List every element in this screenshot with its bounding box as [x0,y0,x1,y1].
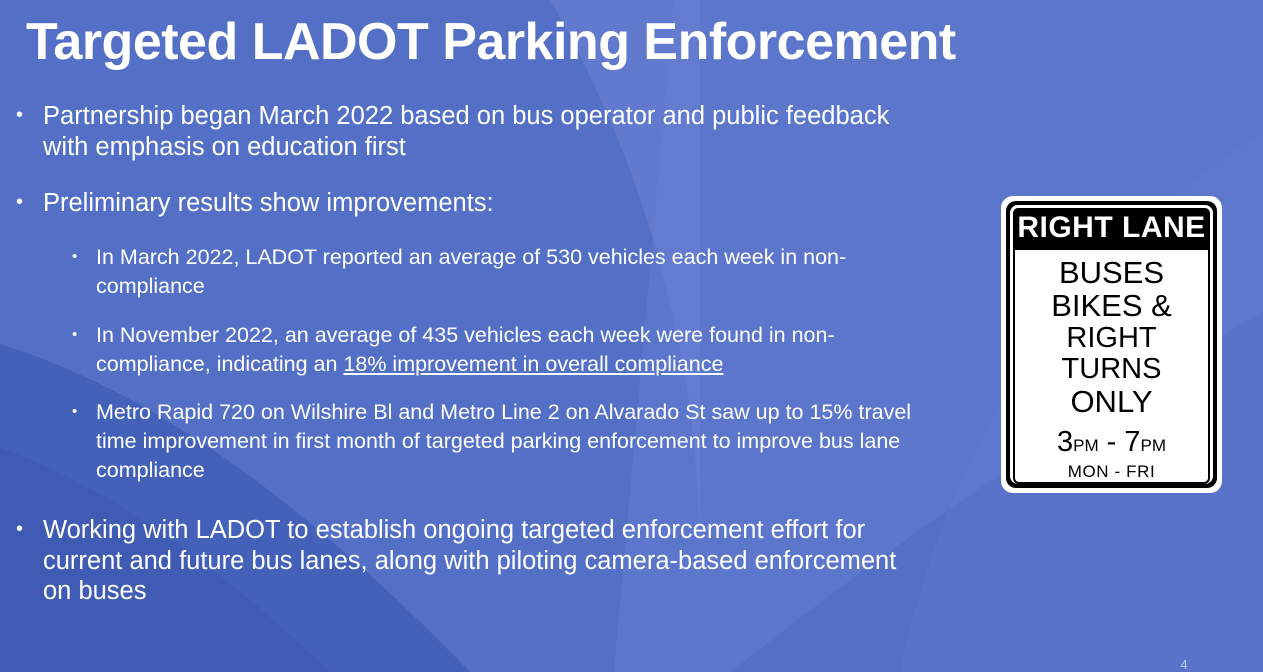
sub-bullet-list: • In March 2022, LADOT reported an avera… [16,223,966,485]
road-sign-meridiem-start: PM [1073,436,1099,455]
bullet-marker: • [72,398,96,426]
bullet-marker: • [72,321,96,349]
road-sign-inner: RIGHT LANE BUSES BIKES & RIGHT TURNS ONL… [1010,205,1213,484]
bullet-marker: • [16,188,43,217]
road-sign-line-bikes: BIKES & [1015,289,1208,322]
bullet-preliminary-results: • Preliminary results show improvements: [16,188,966,219]
road-sign-header-text: RIGHT LANE [1013,208,1210,250]
road-sign-line-buses: BUSES [1015,256,1208,289]
spacer [72,378,966,398]
compliance-improvement-emphasis: 18% improvement in overall compliance [343,352,723,376]
body-content: • Partnership began March 2022 based on … [16,101,966,607]
sub-bullet-november-2022: • In November 2022, an average of 435 ve… [72,321,966,379]
bullet-partnership-text: Partnership began March 2022 based on bu… [43,101,909,162]
road-sign-meridiem-end: PM [1141,436,1167,455]
spacer [16,162,966,188]
road-sign-image: RIGHT LANE BUSES BIKES & RIGHT TURNS ONL… [1001,196,1222,493]
bullet-preliminary-results-text: Preliminary results show improvements: [43,188,909,219]
road-sign-body: BUSES BIKES & RIGHT TURNS ONLY 3PM - 7PM… [1013,250,1210,484]
road-sign-hour-dash: - [1099,426,1125,458]
spacer [72,223,966,243]
page-title: Targeted LADOT Parking Enforcement [26,14,1036,70]
sub-bullet-november-2022-text: In November 2022, an average of 435 vehi… [96,321,944,379]
road-sign-frame: RIGHT LANE BUSES BIKES & RIGHT TURNS ONL… [1006,201,1217,488]
bullet-marker: • [16,101,43,130]
road-sign-hours: 3PM - 7PM [1015,428,1208,457]
sub-bullet-march-2022: • In March 2022, LADOT reported an avera… [72,243,966,301]
page-number: 4 [1178,658,1190,672]
bullet-partnership: • Partnership began March 2022 based on … [16,101,966,162]
bullet-marker: • [72,243,96,271]
spacer [72,301,966,321]
spacer [16,485,966,515]
sub-bullet-travel-time-text: Metro Rapid 720 on Wilshire Bl and Metro… [96,398,944,485]
sub-bullet-travel-time: • Metro Rapid 720 on Wilshire Bl and Met… [72,398,966,485]
bullet-ongoing-enforcement-text: Working with LADOT to establish ongoing … [43,515,909,607]
bullet-marker: • [16,515,43,544]
road-sign-line-right-turns: RIGHT TURNS [1015,323,1208,386]
slide: Targeted LADOT Parking Enforcement • Par… [0,0,1263,672]
road-sign-hour-end: 7 [1124,426,1140,458]
sub-bullet-march-2022-text: In March 2022, LADOT reported an average… [96,243,944,301]
road-sign-days: MON - FRI [1015,462,1208,482]
road-sign-line-only: ONLY [1015,385,1208,418]
road-sign-hour-start: 3 [1057,426,1073,458]
bullet-ongoing-enforcement: • Working with LADOT to establish ongoin… [16,515,966,607]
